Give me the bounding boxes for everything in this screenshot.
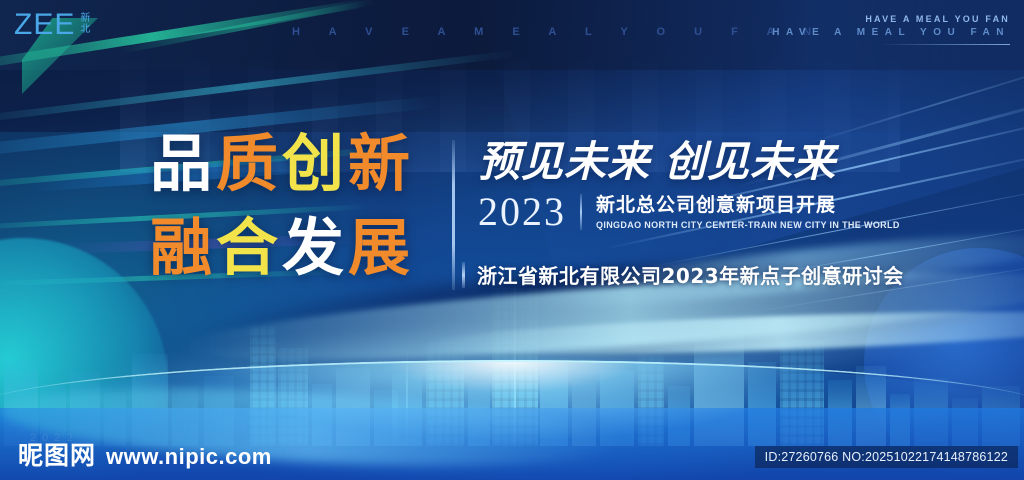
event-tagline-group: 浙江省新北有限公司2023年新点子创意研讨会 <box>462 260 904 289</box>
year-separator <box>580 194 582 230</box>
watermark: 昵图网 www.nipic.com <box>18 436 272 472</box>
headline-right-block: 预见未来创见未来 2023 新北总公司创意新项目开展 QINGDAO NORTH… <box>478 140 918 232</box>
subtitle-group: 新北总公司创意新项目开展 QINGDAO NORTH CITY CENTER-T… <box>596 194 900 230</box>
headline-char-zhi: 质 <box>216 127 282 200</box>
headline-char-fa: 发 <box>282 211 348 284</box>
brand-logo-cn-bottom: 北 <box>80 25 90 36</box>
brand-logo[interactable]: ZEE 新 北 <box>14 10 90 40</box>
headline-line-1: 品质创新 <box>150 133 414 195</box>
headline-char-pin: 品 <box>150 127 216 200</box>
headline-char-he: 合 <box>216 211 282 284</box>
main-headline-left: 品质创新 融合发展 <box>150 133 414 279</box>
subtitle-english: QINGDAO NORTH CITY CENTER-TRAIN NEW CITY… <box>596 220 900 230</box>
poster-canvas: ZEE 新 北 H A V E A M E A L Y O U F A N HA… <box>0 0 1024 480</box>
top-right-tagline-line2: HAVE A MEAL YOU FAN <box>772 27 1010 38</box>
right-headline-part1: 预见未来 <box>478 137 650 186</box>
right-headline-part2: 创见未来 <box>664 137 836 186</box>
headline-char-rong: 融 <box>150 211 216 284</box>
brand-logo-cn-top: 新 <box>80 14 90 25</box>
headline-char-xin: 新 <box>348 127 414 200</box>
brand-logo-cn: 新 北 <box>80 10 90 35</box>
headline-char-chuang: 创 <box>282 127 348 200</box>
subtitle-chinese: 新北总公司创意新项目开展 <box>596 194 900 217</box>
top-center-tagline: H A V E A M E A L Y O U F A N <box>292 26 824 38</box>
top-right-tagline-group: HAVE A MEAL YOU FAN HAVE A MEAL YOU FAN <box>772 14 1010 45</box>
year-label: 2023 <box>478 192 566 232</box>
top-right-tagline-line1: HAVE A MEAL YOU FAN <box>772 14 1010 24</box>
poster-content: ZEE 新 北 H A V E A M E A L Y O U F A N HA… <box>0 0 1024 480</box>
headline-line-2: 融合发展 <box>150 217 414 279</box>
tagline-bar <box>462 262 465 288</box>
headline-char-zhan: 展 <box>348 211 414 284</box>
watermark-cn: 昵图网 <box>18 436 96 472</box>
brand-logo-mark: ZEE <box>14 10 75 40</box>
top-right-rule <box>880 44 1010 45</box>
asset-id-badge: ID:27260766 NO:20251022174148786122 <box>755 446 1018 468</box>
vertical-divider <box>452 140 455 290</box>
right-headline: 预见未来创见未来 <box>478 140 918 184</box>
watermark-url: www.nipic.com <box>106 444 272 470</box>
year-subtitle-row: 2023 新北总公司创意新项目开展 QINGDAO NORTH CITY CEN… <box>478 192 918 232</box>
event-tagline: 浙江省新北有限公司2023年新点子创意研讨会 <box>477 260 904 289</box>
